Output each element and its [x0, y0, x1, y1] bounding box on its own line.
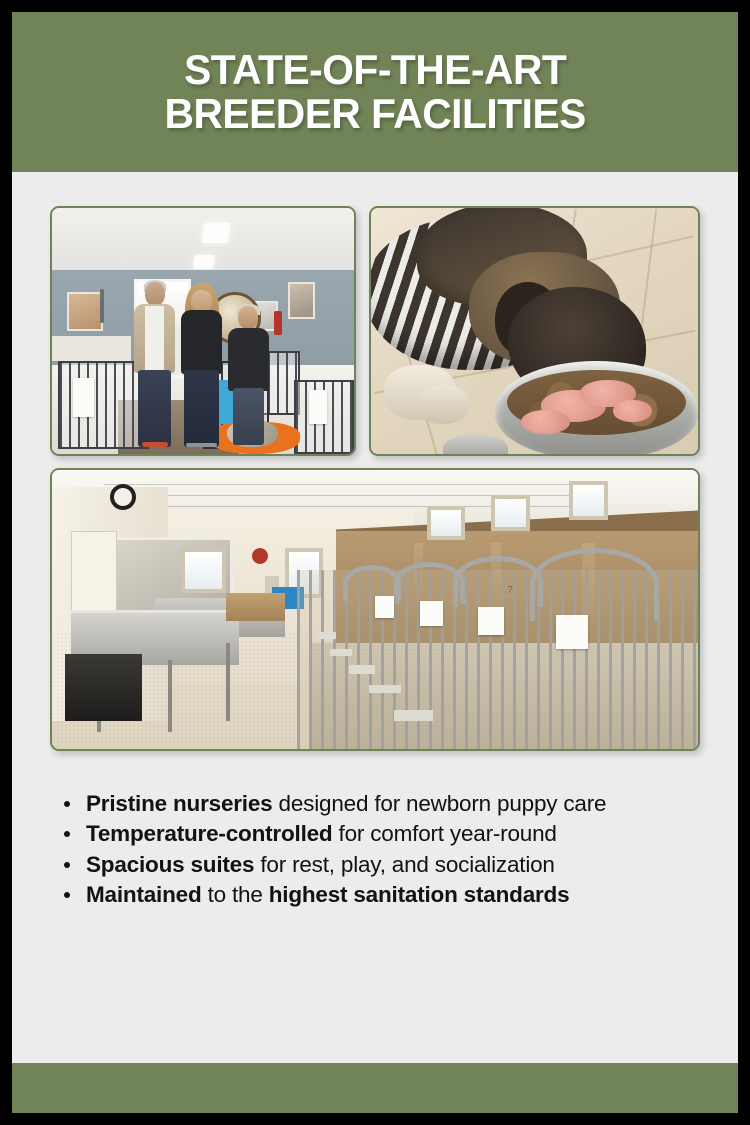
list-item: Pristine nurseries designed for newborn … [60, 789, 700, 818]
ceiling-light-icon [193, 255, 215, 269]
bullet-rest: for comfort year-round [332, 821, 556, 846]
ceiling-light-icon [201, 223, 230, 243]
bullet-bold-lead: Pristine nurseries [86, 791, 273, 816]
bullet-rest: designed for newborn puppy care [273, 791, 607, 816]
puppy-eating-illustration [371, 208, 698, 454]
poster: STATE-OF-THE-ART BREEDER FACILITIES [12, 12, 738, 1113]
window [427, 506, 466, 539]
window [181, 548, 226, 593]
page-title: STATE-OF-THE-ART BREEDER FACILITIES [164, 48, 585, 136]
window [569, 481, 608, 520]
nursery-room-illustration [52, 208, 354, 454]
bullet-bold-lead: Spacious suites [86, 852, 254, 877]
kennel-id-card [478, 607, 504, 635]
window [491, 495, 530, 531]
cardboard-box [226, 593, 284, 621]
pen-id-card [309, 390, 327, 424]
title-line-1: STATE-OF-THE-ART [184, 46, 566, 93]
staff-person [224, 306, 272, 449]
meat-topping [613, 400, 652, 422]
kennel-id-card [556, 615, 588, 648]
header-banner: STATE-OF-THE-ART BREEDER FACILITIES [12, 12, 738, 172]
bullet-bold-tail: highest sanitation standards [269, 882, 570, 907]
bullet-rest: for rest, play, and socialization [254, 852, 554, 877]
kennel-number-label: 7 [507, 584, 513, 596]
kennel-corridor-illustration: 7 [52, 470, 698, 749]
photo-grid-top [50, 206, 700, 456]
trash-bin [65, 654, 143, 721]
feature-list: Pristine nurseries designed for newborn … [50, 789, 700, 910]
kennel-gate-arch [530, 548, 659, 621]
visitor-person [131, 282, 179, 454]
bullet-bold-lead: Maintained [86, 882, 202, 907]
visitor-person [176, 287, 227, 454]
wall-picture [288, 282, 315, 319]
photo-puppy-eating-from-bowl [369, 206, 700, 456]
footer-banner [12, 1063, 738, 1113]
photo-kennel-corridor-runs: 7 [50, 468, 700, 751]
wall-clock-icon [110, 484, 136, 510]
list-item: Spacious suites for rest, play, and soci… [60, 850, 700, 879]
title-line-2: BREEDER FACILITIES [164, 92, 585, 136]
photo-nursery-room-with-visitors [50, 206, 356, 456]
kennel-id-card [375, 596, 394, 618]
content-area: 7 Pristine nurseries designed for newbor… [12, 172, 738, 1063]
list-item: Temperature-controlled for comfort year-… [60, 819, 700, 848]
wall-picture [67, 292, 103, 331]
puppy-paw [417, 385, 469, 424]
kennel-id-card [420, 601, 443, 626]
fire-extinguisher-icon [274, 311, 282, 335]
bullet-rest: to the [202, 882, 269, 907]
pen-id-card [73, 378, 94, 417]
list-item: Maintained to the highest sanitation sta… [60, 880, 700, 909]
bullet-bold-lead: Temperature-controlled [86, 821, 332, 846]
